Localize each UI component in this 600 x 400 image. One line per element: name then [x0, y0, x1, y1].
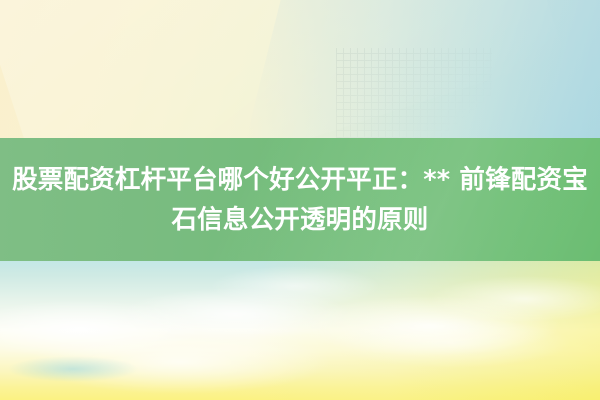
background-grid-texture: [336, 48, 492, 152]
banner-title: 股票配资杠杆平台哪个好公开平正：** 前锋配资宝石信息公开透明的原则: [10, 160, 590, 240]
article-banner: 股票配资杠杆平台哪个好公开平正：** 前锋配资宝石信息公开透明的原则: [0, 0, 600, 400]
cloud-wisp: [8, 356, 138, 382]
title-band: 股票配资杠杆平台哪个好公开平正：** 前锋配资宝石信息公开透明的原则: [0, 138, 600, 261]
